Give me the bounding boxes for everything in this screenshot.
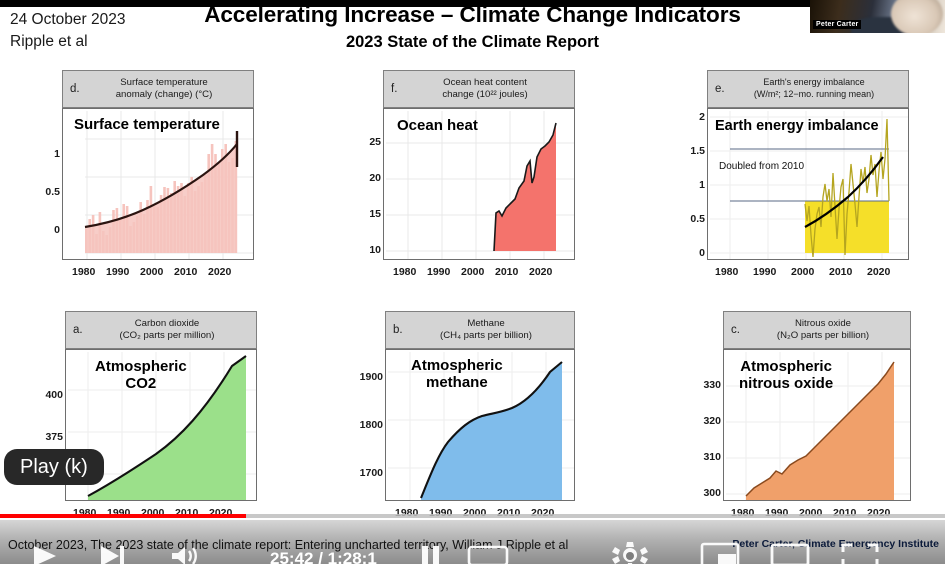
panel-header-ocean-heat: f. Ocean heat content change (10²² joule…	[383, 70, 575, 108]
ytick-eei-1_0: 1	[675, 179, 705, 191]
ytick-surface-temperature-0_0: 0	[26, 224, 60, 236]
xtick-eei-1980: 1980	[715, 266, 738, 278]
panel-caption-line2: (N₂O parts per billion)	[750, 330, 896, 342]
ytick-ocean-heat-15: 15	[351, 208, 381, 220]
speaker-webcam-thumbnail[interactable]: Peter Carter	[810, 0, 945, 33]
panel-caption: Methane (CH₄ parts per billion)	[412, 318, 574, 343]
plot-methane	[385, 349, 575, 501]
ytick-co2-375: 375	[25, 431, 63, 443]
panel-caption-line1: Earth's energy imbalance	[763, 77, 864, 87]
fullscreen-icon[interactable]	[840, 542, 880, 564]
panel-nitrous-oxide: c. Nitrous oxide (N₂O parts per billion)	[723, 311, 911, 511]
panel-caption-line2: anomaly (change) (°C)	[89, 89, 239, 101]
ytick-co2-400: 400	[25, 389, 63, 401]
pause-icon[interactable]	[418, 544, 444, 564]
progress-bar-played[interactable]	[0, 514, 246, 518]
panel-caption-line1: Ocean heat content	[443, 77, 527, 88]
progress-bar-track[interactable]	[0, 514, 945, 518]
panel-caption-line1: Surface temperature	[120, 77, 207, 88]
panel-annotation-doubled-from-2010: Doubled from 2010	[719, 161, 804, 172]
panel-caption: Carbon dioxide (CO₂ parts per million)	[92, 318, 256, 343]
xtick-eei-2010: 2010	[829, 266, 852, 278]
page-title: Accelerating Increase – Climate Change I…	[0, 2, 945, 28]
xtick-ocean-heat-1980: 1980	[393, 266, 416, 278]
panel-caption-line2: change (10²² joules)	[410, 89, 560, 101]
xtick-eei-1990: 1990	[753, 266, 776, 278]
ytick-ocean-heat-20: 20	[351, 172, 381, 184]
play-tooltip: Play (k)	[4, 449, 104, 485]
play-button[interactable]	[28, 544, 62, 564]
panel-caption-line2: (W/m²; 12−mo. running mean)	[734, 89, 894, 101]
ytick-ocean-heat-25: 25	[351, 136, 381, 148]
plot-svg-methane	[386, 350, 575, 501]
miniplayer-icon[interactable]	[700, 542, 740, 564]
xtick-ocean-heat-2000: 2000	[461, 266, 484, 278]
panel-caption: Earth's energy imbalance (W/m²; 12−mo. r…	[734, 77, 908, 100]
plot-earth-energy-imbalance	[707, 108, 909, 260]
area-fill	[421, 362, 562, 500]
xtick-ocean-heat-1990: 1990	[427, 266, 450, 278]
panel-letter: f.	[384, 83, 410, 95]
xtick-eei-2000: 2000	[791, 266, 814, 278]
panel-caption-line2: (CH₄ parts per billion)	[412, 330, 560, 342]
speaker-name-label: Peter Carter	[813, 20, 861, 29]
next-button[interactable]	[96, 544, 130, 564]
panel-caption-line2: (CO₂ parts per million)	[92, 330, 242, 342]
panel-caption-line1: Nitrous oxide	[795, 318, 851, 329]
plot-svg-ocean-heat	[384, 109, 575, 260]
ytick-n2o-300: 300	[685, 487, 721, 499]
panel-caption: Ocean heat content change (10²² joules)	[410, 77, 574, 102]
cc-icon[interactable]	[466, 544, 510, 564]
ytick-eei-0_0: 0	[675, 247, 705, 259]
panel-letter: d.	[63, 83, 89, 95]
ytick-n2o-330: 330	[685, 379, 721, 391]
area-fill	[494, 123, 556, 251]
xtick-eei-2020: 2020	[867, 266, 890, 278]
panel-letter: e.	[708, 83, 734, 95]
xtick-surface-temperature-1980: 1980	[72, 266, 95, 278]
xtick-surface-temperature-2020: 2020	[208, 266, 231, 278]
panel-header-methane: b. Methane (CH₄ parts per billion)	[385, 311, 575, 349]
panel-ocean-heat: f. Ocean heat content change (10²² joule…	[383, 70, 575, 270]
xtick-ocean-heat-2010: 2010	[495, 266, 518, 278]
ytick-eei-2_0: 2	[675, 111, 705, 123]
theater-mode-icon[interactable]	[770, 542, 810, 564]
plot-nitrous-oxide	[723, 349, 911, 501]
panel-letter: b.	[386, 324, 412, 336]
ytick-ocean-heat-10: 10	[351, 244, 381, 256]
plot-svg-surface-temperature	[63, 109, 254, 260]
ytick-ch4-1800: 1800	[343, 419, 383, 431]
plot-surface-temperature	[62, 108, 254, 260]
xtick-ocean-heat-2020: 2020	[529, 266, 552, 278]
video-player-stage: 24 October 2023 Ripple et al Acceleratin…	[0, 0, 945, 564]
speaker-face	[891, 0, 943, 33]
panel-caption: Nitrous oxide (N₂O parts per billion)	[750, 318, 910, 343]
panel-earth-energy-imbalance: e. Earth's energy imbalance (W/m²; 12−mo…	[707, 70, 909, 270]
panel-header-carbon-dioxide: a. Carbon dioxide (CO₂ parts per million…	[65, 311, 257, 349]
panel-caption: Surface temperature anomaly (change) (°C…	[89, 77, 253, 102]
ytick-n2o-310: 310	[685, 451, 721, 463]
gear-icon[interactable]	[612, 542, 648, 564]
ytick-surface-temperature-1_0: 1	[26, 148, 60, 160]
panel-header-earth-energy-imbalance: e. Earth's energy imbalance (W/m²; 12−mo…	[707, 70, 909, 108]
panel-letter: c.	[724, 324, 750, 336]
ytick-surface-temperature-0_5: 0.5	[26, 186, 60, 198]
plot-ocean-heat	[383, 108, 575, 260]
xtick-surface-temperature-2010: 2010	[174, 266, 197, 278]
xtick-surface-temperature-1990: 1990	[106, 266, 129, 278]
xtick-surface-temperature-2000: 2000	[140, 266, 163, 278]
panel-header-nitrous-oxide: c. Nitrous oxide (N₂O parts per billion)	[723, 311, 911, 349]
ytick-eei-1_5: 1.5	[675, 145, 705, 157]
plot-svg-earth-energy-imbalance	[708, 109, 909, 260]
ytick-n2o-320: 320	[685, 415, 721, 427]
panel-methane: b. Methane (CH₄ parts per billion)	[385, 311, 575, 511]
ytick-ch4-1700: 1700	[343, 467, 383, 479]
video-credit-text: Peter Carter, Climate Emergency Institut…	[732, 538, 939, 550]
panel-caption-line1: Carbon dioxide	[135, 318, 200, 329]
plot-svg-nitrous-oxide	[724, 350, 911, 501]
panel-header-surface-temperature: d. Surface temperature anomaly (change) …	[62, 70, 254, 108]
ytick-eei-0_5: 0.5	[675, 213, 705, 225]
panel-surface-temperature: d. Surface temperature anomaly (change) …	[62, 70, 254, 270]
ytick-ch4-1900: 1900	[343, 371, 383, 383]
area-fill	[88, 356, 246, 500]
time-display: 25:42 / 1:28:1	[270, 549, 377, 564]
page-subtitle: 2023 State of the Climate Report	[0, 33, 945, 52]
panel-caption-line1: Methane	[467, 318, 504, 329]
volume-icon[interactable]	[168, 544, 206, 564]
panel-letter: a.	[66, 324, 92, 336]
